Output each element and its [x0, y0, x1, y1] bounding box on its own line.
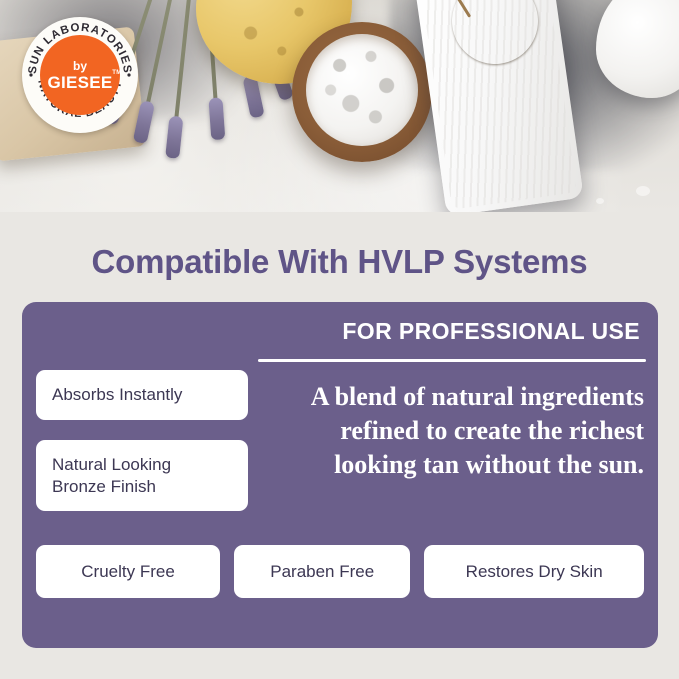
- feature-pill-restores-dry-skin: Restores Dry Skin: [424, 545, 644, 598]
- bath-salt: [306, 34, 418, 146]
- bottom-feature-row: Cruelty Free Paraben Free Restores Dry S…: [36, 545, 644, 598]
- lavender-flower: [208, 97, 225, 140]
- feature-pill-label: Paraben Free: [270, 562, 374, 582]
- product-feature-graphic: SUN LABORATORIES NATURAL BEAUTY by GIESE…: [0, 0, 679, 679]
- salt-bowl: [292, 22, 432, 162]
- badge-by-label: by: [73, 60, 87, 72]
- divider-rule: [258, 359, 646, 362]
- badge-core-text: by GIESEE TM: [40, 35, 120, 115]
- feature-pill-paraben-free: Paraben Free: [234, 545, 410, 598]
- professional-use-heading: FOR PROFESSIONAL USE: [258, 318, 646, 345]
- spa-photo-banner: SUN LABORATORIES NATURAL BEAUTY by GIESE…: [0, 0, 679, 212]
- surface-speck: [596, 198, 604, 204]
- badge-brand-label: GIESEE: [47, 73, 112, 92]
- feature-pill-cruelty-free: Cruelty Free: [36, 545, 220, 598]
- badge-trademark-label: TM: [112, 70, 121, 76]
- feature-card-natural-looking-bronze-finish: Natural Looking Bronze Finish: [36, 440, 248, 512]
- badge-brand-name: GIESEE TM: [47, 74, 112, 91]
- feature-pill-label: Cruelty Free: [81, 562, 175, 582]
- product-description: A blend of natural ingredients refined t…: [258, 380, 646, 481]
- right-info-column: FOR PROFESSIONAL USE A blend of natural …: [258, 318, 646, 481]
- page-title: Compatible With HVLP Systems: [0, 243, 679, 281]
- feature-pill-label: Restores Dry Skin: [466, 562, 603, 582]
- feature-card-absorbs-instantly: Absorbs Instantly: [36, 370, 248, 420]
- feature-card-label: Natural Looking Bronze Finish: [52, 455, 171, 496]
- badge-core-circle: by GIESEE TM: [40, 35, 120, 115]
- brand-logo-badge: SUN LABORATORIES NATURAL BEAUTY by GIESE…: [22, 17, 138, 133]
- surface-speck: [636, 186, 650, 196]
- feature-panel: Absorbs Instantly Natural Looking Bronze…: [22, 302, 658, 648]
- feature-card-label: Absorbs Instantly: [52, 385, 182, 404]
- left-feature-column: Absorbs Instantly Natural Looking Bronze…: [36, 370, 248, 531]
